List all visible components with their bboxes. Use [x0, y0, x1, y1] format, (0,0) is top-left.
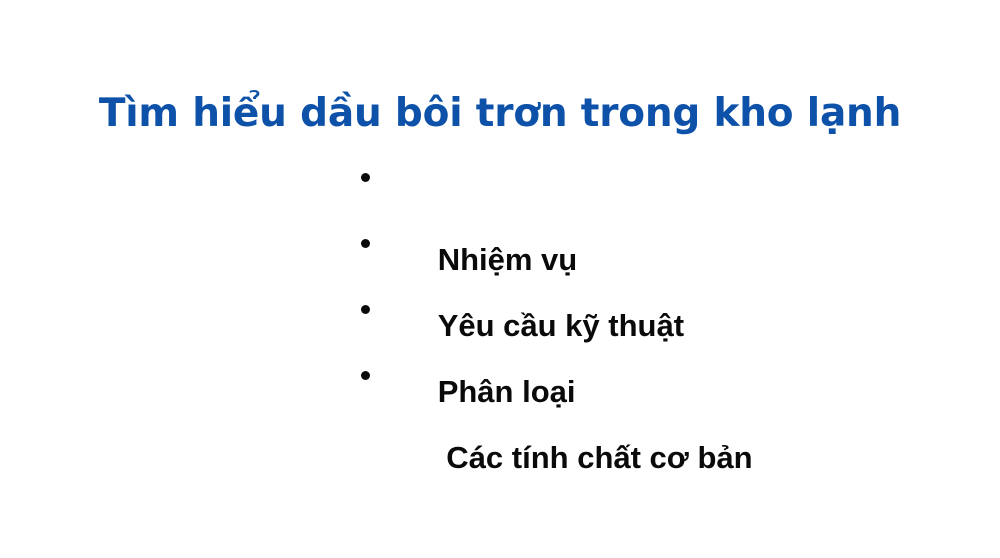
- list-item: Yêu cầu kỹ thuật: [355, 226, 955, 292]
- list-item: Phân loại: [355, 292, 955, 358]
- bullet-dot-icon: [361, 173, 370, 182]
- list-item: Các tính chất cơ bản: [355, 358, 955, 424]
- bullet-dot-icon: [361, 371, 370, 380]
- bullet-dot-icon: [361, 305, 370, 314]
- list-item-label: Các tính chất cơ bản: [438, 438, 753, 478]
- list-item: Nhiệm vụ: [355, 160, 955, 226]
- page-title: Tìm hiểu dầu bôi trơn trong kho lạnh: [0, 88, 1000, 140]
- slide-canvas: Tìm hiểu dầu bôi trơn trong kho lạnh Nhi…: [0, 0, 1000, 558]
- bullet-dot-icon: [361, 239, 370, 248]
- bullet-list: Nhiệm vụ Yêu cầu kỹ thuật Phân loại Các …: [355, 160, 955, 424]
